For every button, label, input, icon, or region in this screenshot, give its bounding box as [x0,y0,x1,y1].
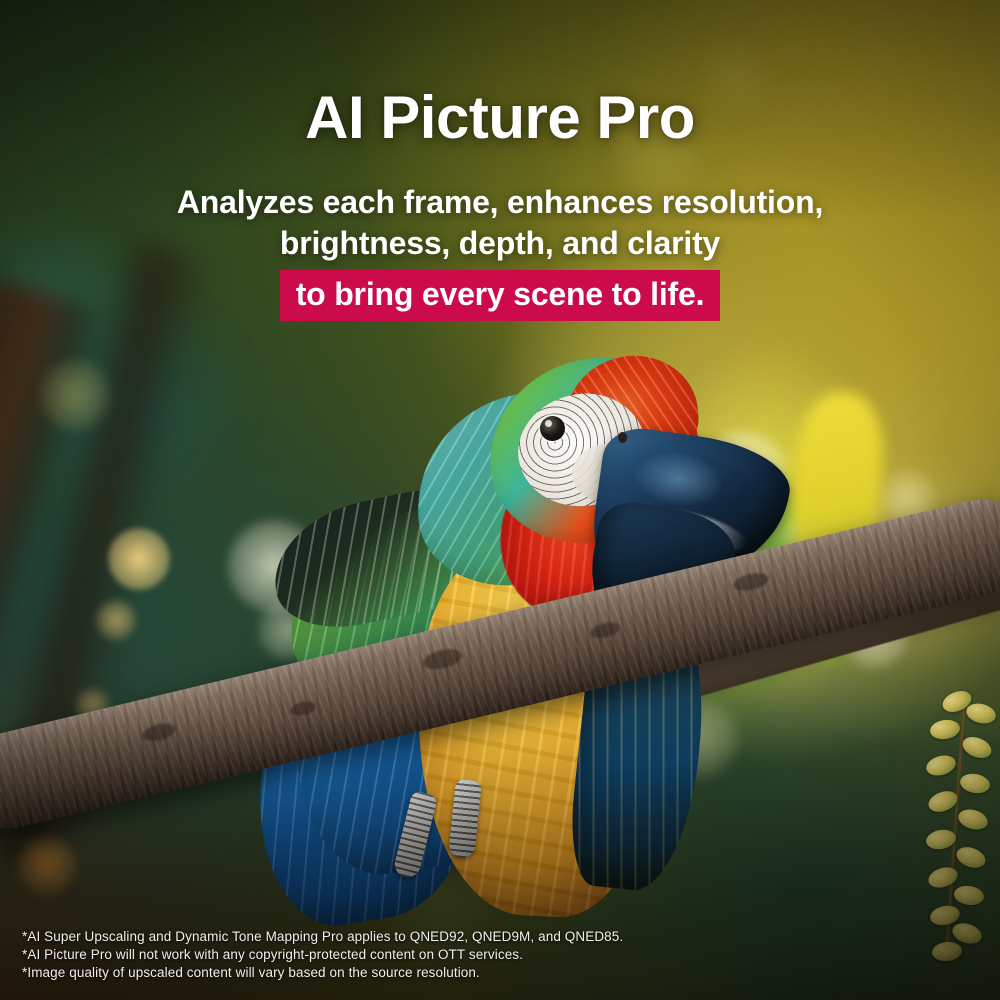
parrot-eye [540,416,565,441]
footnote-3: *Image quality of upscaled content will … [22,964,623,982]
footnote-2: *AI Picture Pro will not work with any c… [22,946,623,964]
ai-picture-pro-poster: AI Picture Pro Analyzes each frame, enha… [0,0,1000,1000]
footnote-1: *AI Super Upscaling and Dynamic Tone Map… [22,928,623,946]
seed-pod-cluster [912,690,1000,970]
parrot-eye-highlight [545,420,552,427]
parrot-nostril [618,432,627,443]
footnotes: *AI Super Upscaling and Dynamic Tone Map… [22,928,623,982]
